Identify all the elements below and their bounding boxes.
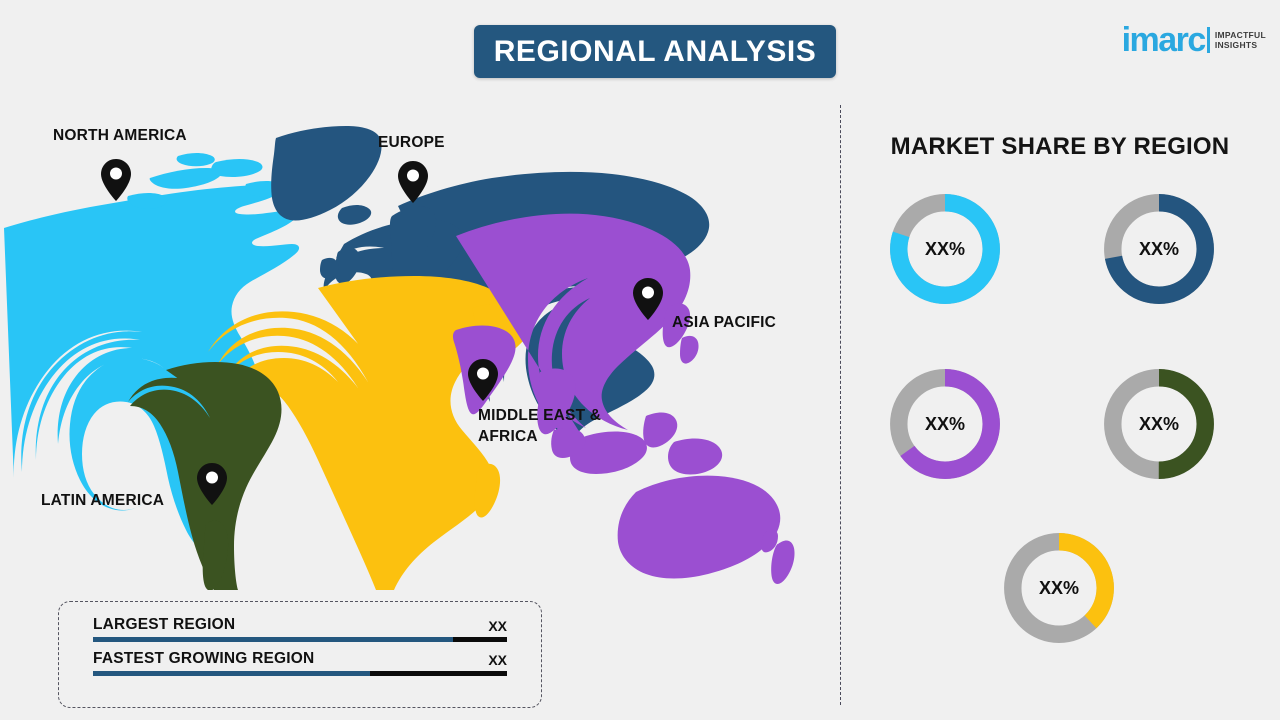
donut-chart-north-america: XX% bbox=[884, 188, 1006, 310]
legend-track-largest-region bbox=[93, 637, 507, 642]
map-label-middle-east-africa: MIDDLE EAST & AFRICA bbox=[478, 406, 601, 448]
map-pin-middle-east-africa bbox=[467, 358, 499, 407]
map-label-north-america: NORTH AMERICA bbox=[53, 126, 187, 147]
region-summary-box: LARGEST REGION XX FASTEST GROWING REGION… bbox=[58, 601, 542, 708]
map-label-europe: EUROPE bbox=[378, 133, 445, 154]
logo-divider-bar bbox=[1207, 27, 1210, 53]
page-title: REGIONAL ANALYSIS bbox=[494, 35, 816, 69]
legend-fill-fastest-growing-region bbox=[93, 671, 370, 676]
market-share-title: MARKET SHARE BY REGION bbox=[840, 133, 1280, 161]
logo-tagline-line1: IMPACTFUL bbox=[1215, 30, 1266, 40]
donut-chart-europe: XX% bbox=[1098, 188, 1220, 310]
vertical-divider bbox=[840, 105, 841, 705]
legend-row-largest-region: LARGEST REGION XX bbox=[93, 616, 507, 642]
map-pin-latin-america bbox=[196, 462, 228, 511]
legend-row-fastest-growing-region: FASTEST GROWING REGION XX bbox=[93, 650, 507, 676]
legend-value-largest-region: XX bbox=[488, 618, 507, 634]
map-pin-europe bbox=[397, 160, 429, 209]
page-title-banner: REGIONAL ANALYSIS bbox=[474, 25, 836, 78]
logo-tagline: IMPACTFUL INSIGHTS bbox=[1215, 30, 1266, 50]
map-pin-asia-pacific bbox=[632, 277, 664, 326]
legend-head: LARGEST REGION XX bbox=[93, 616, 507, 634]
legend-value-fastest-growing-region: XX bbox=[488, 652, 507, 668]
logo-wordmark: imarc bbox=[1122, 23, 1205, 57]
legend-label-fastest-growing-region: FASTEST GROWING REGION bbox=[93, 650, 314, 668]
donut-label-latin-america: XX% bbox=[1098, 363, 1220, 485]
map-pin-north-america bbox=[100, 158, 132, 207]
legend-head: FASTEST GROWING REGION XX bbox=[93, 650, 507, 668]
map-label-latin-america: LATIN AMERICA bbox=[41, 491, 164, 512]
donut-chart-latin-america: XX% bbox=[1098, 363, 1220, 485]
donut-label-north-america: XX% bbox=[884, 188, 1006, 310]
donut-chart-asia-pacific: XX% bbox=[884, 363, 1006, 485]
region-greenland bbox=[271, 126, 381, 225]
donut-label-asia-pacific: XX% bbox=[884, 363, 1006, 485]
legend-track-fastest-growing-region bbox=[93, 671, 507, 676]
donut-label-europe: XX% bbox=[1098, 188, 1220, 310]
donut-chart-middle-east-africa: XX% bbox=[998, 527, 1120, 649]
map-label-asia-pacific: ASIA PACIFIC bbox=[672, 313, 776, 334]
imarc-logo: imarc IMPACTFUL INSIGHTS bbox=[1122, 22, 1266, 58]
logo-tagline-line2: INSIGHTS bbox=[1215, 40, 1266, 50]
legend-label-largest-region: LARGEST REGION bbox=[93, 616, 235, 634]
donut-label-middle-east-africa: XX% bbox=[998, 527, 1120, 649]
infographic-canvas: REGIONAL ANALYSIS imarc IMPACTFUL INSIGH… bbox=[0, 0, 1280, 720]
legend-fill-largest-region bbox=[93, 637, 453, 642]
